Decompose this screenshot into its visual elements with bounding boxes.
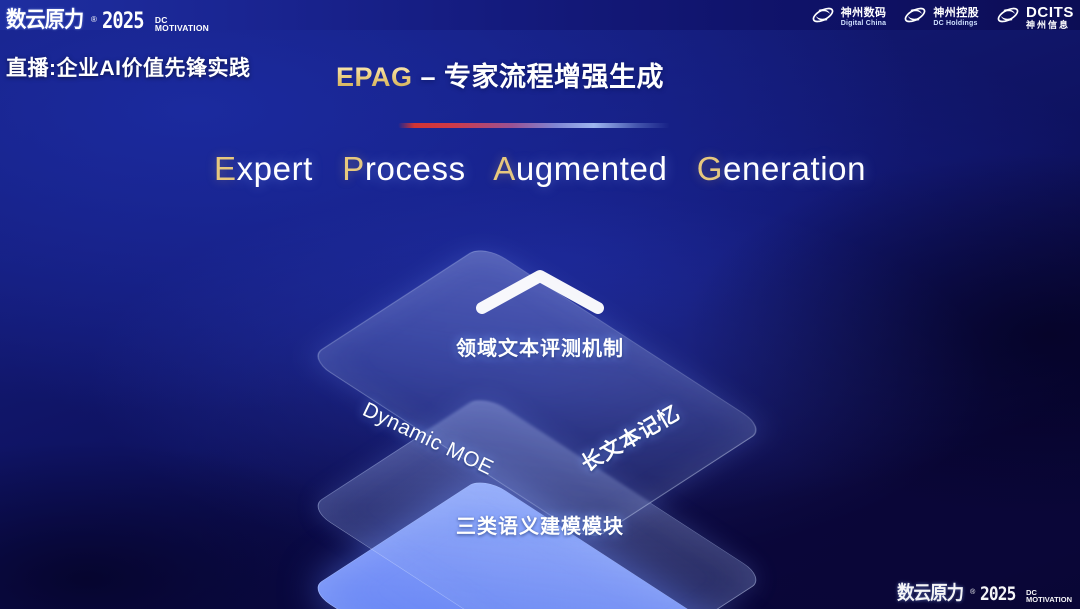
brand-logo-cn: 数云原力 [6, 2, 83, 34]
brand-logo-dc: DC MOTIVATION [155, 17, 209, 33]
swirl-icon [995, 4, 1021, 31]
brand-logo: 数云原力 ® 2025 DC MOTIVATION [6, 2, 209, 34]
watermark-cn: 数云原力 [897, 578, 963, 605]
title-acronym: EPAG [336, 62, 413, 92]
subtitle-space [475, 150, 485, 187]
subtitle-cap: A [493, 150, 516, 187]
partner-en-name: Digital China [841, 20, 887, 27]
watermark-dc: DC MOTIVATION [1026, 590, 1072, 604]
subtitle-cap: E [214, 150, 237, 187]
partner-cn-name: 神州数码 [841, 8, 887, 19]
brand-watermark: 数云原力 ® 2025 DC MOTIVATION [897, 578, 1072, 605]
subtitle-rest: xpert [237, 150, 313, 187]
title-divider [398, 123, 670, 128]
subtitle-word-expert: Expert [214, 150, 313, 187]
subtitle-space [677, 150, 687, 187]
partner-cn-name: 神州控股 [933, 8, 979, 19]
slide-stage: 数云原力 ® 2025 DC MOTIVATION 直播:企业AI价值先锋实践 … [0, 0, 1080, 609]
subtitle-rest: eneration [723, 150, 866, 187]
subtitle-cap: G [697, 150, 723, 187]
subtitle-word-generation: Generation [697, 150, 866, 187]
diagram-label-bottom: 三类语义建模模块 [0, 510, 1080, 539]
swirl-icon [902, 4, 928, 31]
page-subtitle: Expert Process Augmented Generation [0, 150, 1080, 188]
partner-logo-dcits: DCITS 神州信息 [995, 4, 1074, 31]
swirl-icon [810, 4, 836, 31]
watermark-registered-mark: ® [970, 589, 975, 596]
partner-logo-group: 神州数码 Digital China 神州控股 DC Holdings [810, 4, 1074, 31]
subtitle-cap: P [342, 150, 365, 187]
subtitle-word-augmented: Augmented [493, 150, 667, 187]
title-chinese: 专家流程增强生成 [444, 62, 664, 92]
brand-logo-dc-line2: MOTIVATION [155, 25, 209, 33]
partner-label: 神州数码 Digital China [841, 8, 887, 26]
diagram-plate-top [308, 244, 766, 542]
partner-en-name: DC Holdings [933, 20, 979, 27]
watermark-dc-line2: MOTIVATION [1026, 597, 1072, 604]
partner-cn-name: 神州信息 [1026, 21, 1074, 30]
brand-logo-year: 2025 [102, 9, 144, 34]
partner-label: DCITS 神州信息 [1026, 5, 1074, 29]
diagram-label-top: 领域文本评测机制 [0, 332, 1080, 361]
partner-logo-digital-china: 神州数码 Digital China [810, 4, 887, 31]
live-banner-text: 直播:企业AI价值先锋实践 [6, 52, 251, 82]
subtitle-word-process: Process [342, 150, 465, 187]
subtitle-rest: ugmented [516, 150, 668, 187]
subtitle-rest: rocess [365, 150, 466, 187]
partner-logo-dc-holdings: 神州控股 DC Holdings [902, 4, 979, 31]
brand-registered-mark: ® [91, 15, 97, 24]
partner-label: 神州控股 DC Holdings [933, 8, 979, 26]
diagram-layer-top[interactable] [372, 228, 702, 558]
watermark-year: 2025 [980, 583, 1016, 605]
title-separator: – [413, 62, 445, 92]
page-title: EPAG – 专家流程增强生成 [336, 55, 664, 94]
subtitle-space [323, 150, 333, 187]
partner-en-name: DCITS [1026, 5, 1074, 20]
